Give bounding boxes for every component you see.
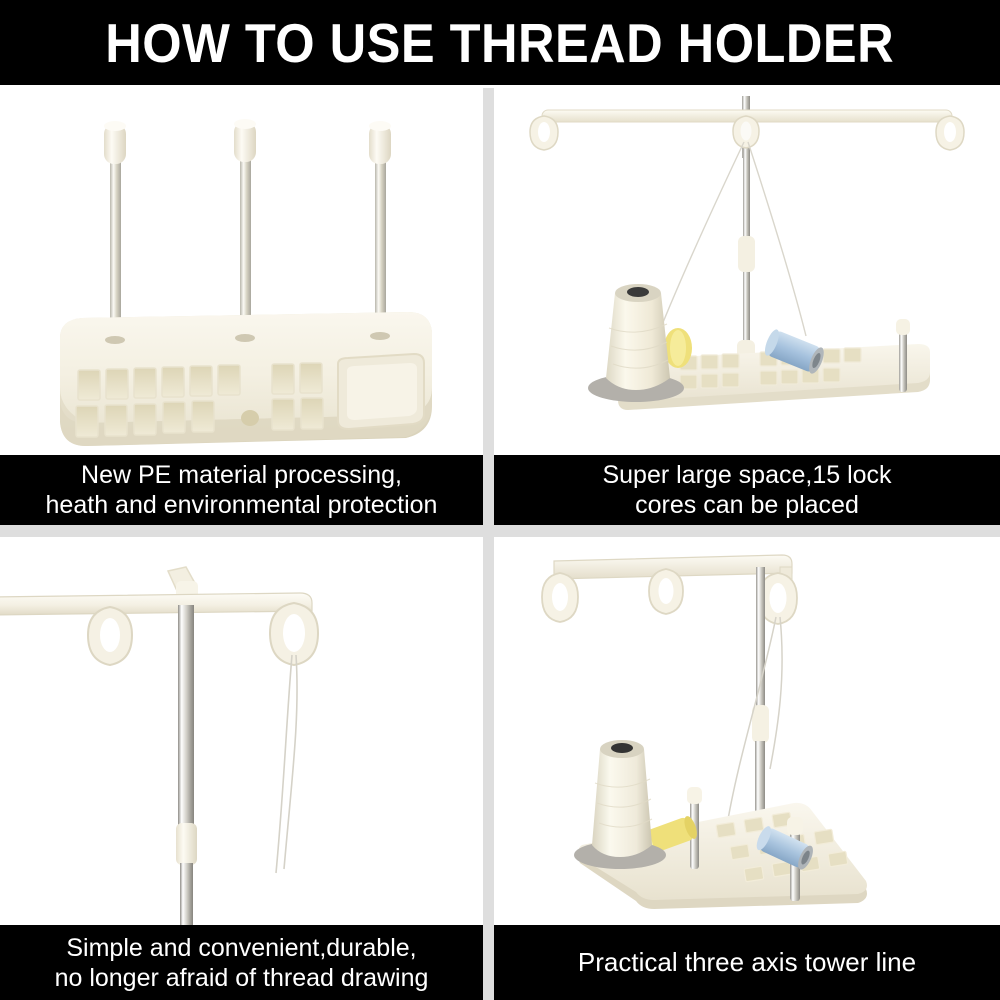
panel-3-caption-line-1: Simple and convenient,durable,	[66, 934, 416, 962]
panel-4-photo	[494, 537, 1000, 925]
crossbar-closeup-illustration	[0, 537, 483, 925]
page-title: HOW TO USE THREAD HOLDER	[106, 14, 895, 72]
panel-grid: New PE material processing, heath and en…	[0, 88, 1000, 1000]
thread-guide-eyelet-1	[542, 573, 578, 622]
thread-guide-eyelet-right	[270, 603, 318, 665]
panel-1-caption-line-2: heath and environmental protection	[46, 491, 438, 519]
panel-1: New PE material processing, heath and en…	[0, 88, 483, 525]
panel-1-photo	[0, 88, 483, 456]
thread-guide-eyelet-left	[88, 607, 132, 665]
thread-holder-base-illustration	[0, 88, 483, 456]
crossbar	[0, 593, 312, 615]
thread-guide-eyelet-center	[733, 116, 759, 148]
thread-guide-eyelet-2	[649, 569, 683, 614]
panel-3-caption: Simple and convenient,durable, no longer…	[0, 925, 483, 1000]
header-banner: HOW TO USE THREAD HOLDER	[0, 0, 1000, 85]
thread-guide-eyelet-left	[530, 116, 558, 150]
panel-2-caption: Super large space,15 lock cores can be p…	[494, 455, 1000, 525]
panel-4-caption-line-1: Practical three axis tower line	[578, 947, 916, 978]
panel-2-caption-line-2: cores can be placed	[635, 491, 859, 519]
rod-socket-center	[235, 334, 255, 342]
pole-telescoping-collar	[738, 236, 755, 272]
panel-4: Practical three axis tower line	[494, 537, 1000, 1000]
panel-3-caption-line-2: no longer afraid of thread drawing	[55, 964, 429, 992]
panel-3: Simple and convenient,durable, no longer…	[0, 537, 483, 1000]
pole-telescoping-collar	[176, 823, 197, 865]
thread-guide-eyelet-right	[936, 116, 964, 150]
infographic-page: HOW TO USE THREAD HOLDER	[0, 0, 1000, 1000]
panel-1-caption: New PE material processing, heath and en…	[0, 455, 483, 525]
panel-2-photo	[494, 88, 1000, 456]
rod-socket-left	[105, 336, 125, 344]
center-round-hole	[241, 410, 259, 426]
panel-3-photo	[0, 537, 483, 925]
panel-4-caption: Practical three axis tower line	[494, 925, 1000, 1000]
assembled-thread-stand-front-illustration	[494, 88, 1000, 456]
pole-telescoping-collar	[752, 705, 769, 743]
panel-2: Super large space,15 lock cores can be p…	[494, 88, 1000, 525]
accessory-tray	[338, 354, 424, 429]
panel-2-caption-line-1: Super large space,15 lock	[602, 461, 891, 489]
panel-1-caption-line-1: New PE material processing,	[81, 461, 402, 489]
slot-grid-top-row	[78, 363, 322, 400]
three-axis-tower-angled-illustration	[494, 537, 1000, 925]
rod-socket-right	[370, 332, 390, 340]
